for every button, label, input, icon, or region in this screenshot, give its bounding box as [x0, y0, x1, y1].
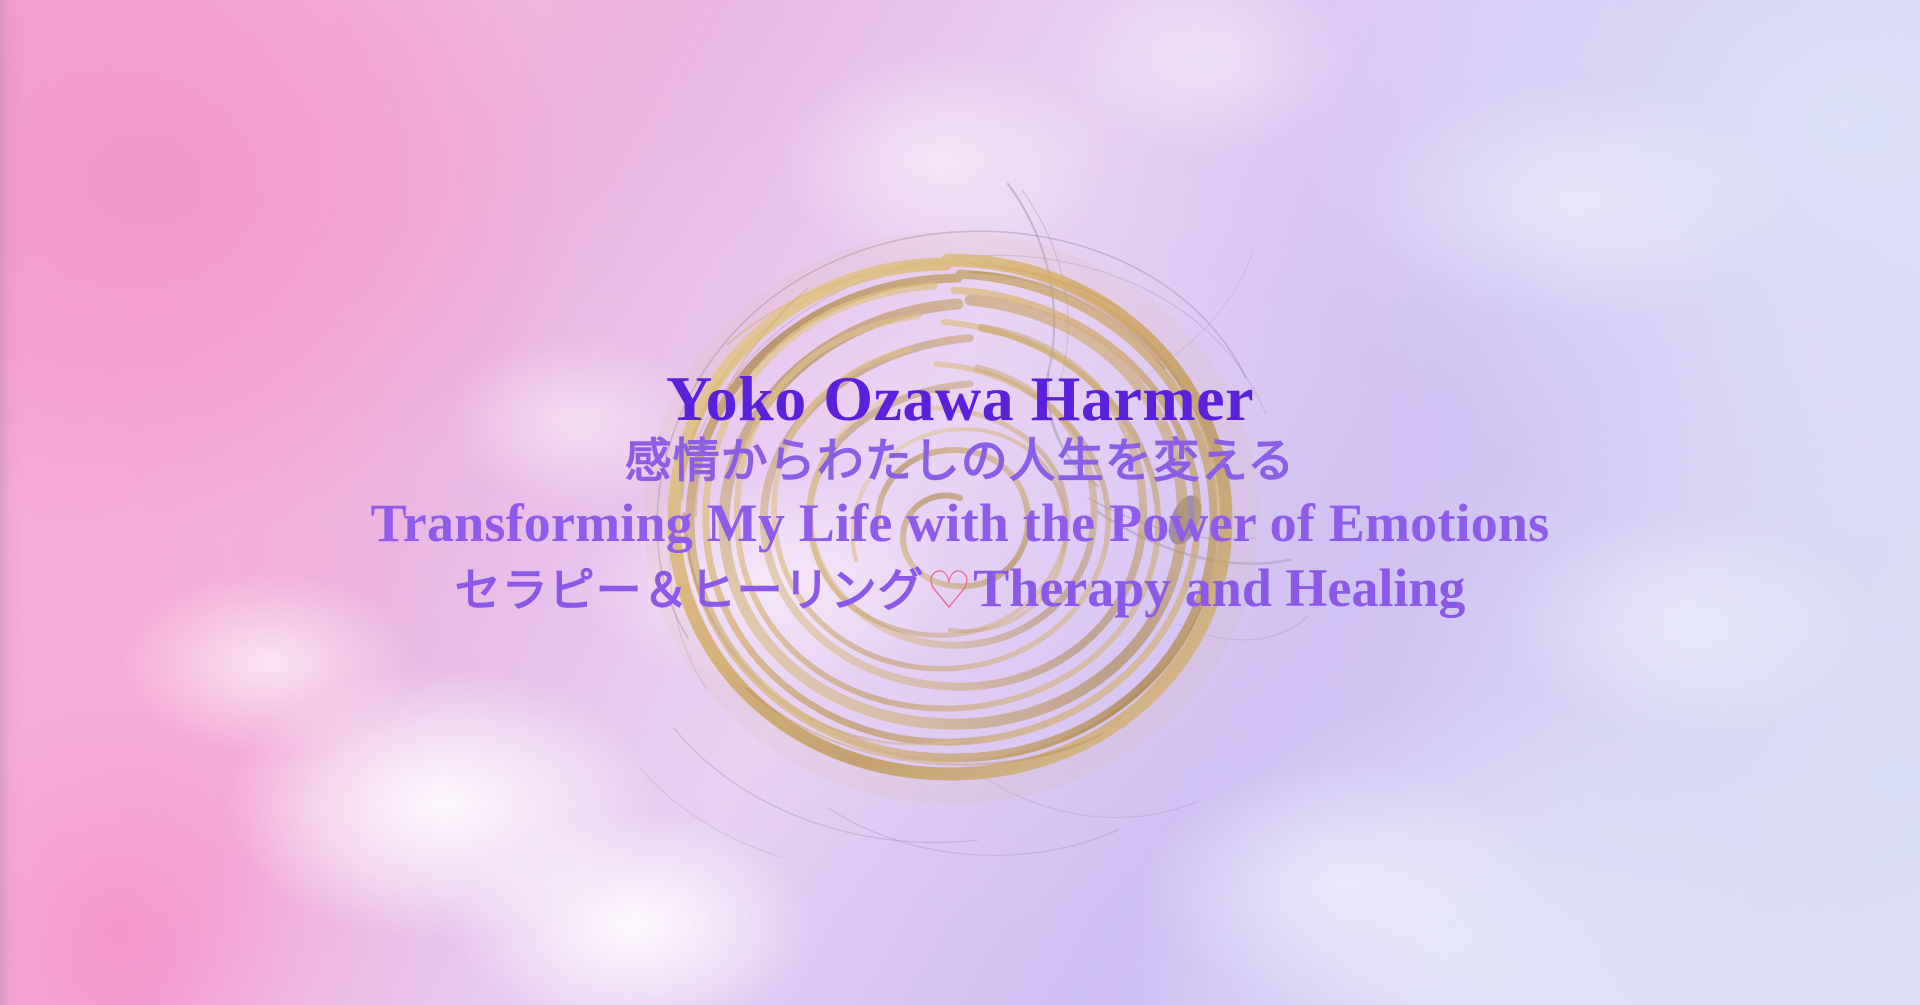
hero-services-english: Therapy and Healing [973, 558, 1465, 618]
heart-icon: ♡ [925, 561, 974, 621]
hero-name: Yoko Ozawa Harmer [0, 366, 1920, 431]
hero-english-tagline: Transforming My Life with the Power of E… [0, 492, 1920, 556]
hero-text-block: Yoko Ozawa Harmer 感情からわたしの人生を変える Transfo… [0, 366, 1920, 622]
hero-services-line: セラピー＆ヒーリング♡Therapy and Healing [0, 556, 1920, 622]
hero-banner: Yoko Ozawa Harmer 感情からわたしの人生を変える Transfo… [0, 0, 1920, 1005]
hero-services-japanese: セラピー＆ヒーリング [455, 563, 925, 617]
hero-japanese-tagline: 感情からわたしの人生を変える [0, 431, 1920, 492]
